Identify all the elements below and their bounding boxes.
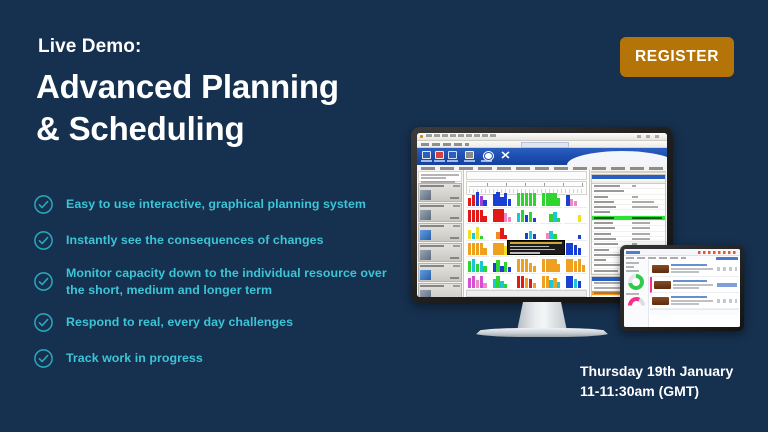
list-item: Easy to use interactive, graphical plann… bbox=[33, 193, 393, 215]
check-circle-icon bbox=[33, 230, 54, 251]
list-item-label: Monitor capacity down to the individual … bbox=[66, 265, 393, 298]
chart-cell[interactable] bbox=[564, 275, 587, 291]
list-item: Respond to real, every day challenges bbox=[33, 311, 393, 333]
chart-cell[interactable] bbox=[466, 242, 489, 258]
list-item: Track work in progress bbox=[33, 347, 393, 369]
chart-cell[interactable] bbox=[491, 209, 514, 225]
resource-card[interactable] bbox=[418, 203, 462, 222]
item-actions[interactable] bbox=[717, 299, 737, 303]
event-schedule: Thursday 19th January 11-11:30am (GMT) bbox=[580, 362, 733, 402]
check-circle-icon bbox=[33, 312, 54, 333]
chart-cell[interactable] bbox=[540, 192, 563, 208]
resource-card[interactable] bbox=[418, 183, 462, 202]
resource-card[interactable] bbox=[418, 223, 462, 242]
event-date: Thursday 19th January bbox=[580, 362, 733, 382]
tablet-status-indicators bbox=[698, 251, 738, 254]
chart-view-icon[interactable] bbox=[435, 151, 444, 159]
clipboard-label bbox=[464, 160, 475, 162]
chart-cell[interactable] bbox=[466, 192, 489, 208]
chart-cell[interactable] bbox=[491, 225, 514, 241]
progress-gauge-pink bbox=[628, 297, 645, 306]
chart-filter-bar[interactable] bbox=[466, 171, 587, 180]
chart-cell[interactable] bbox=[564, 192, 587, 208]
list-item: Instantly see the consequences of change… bbox=[33, 229, 393, 251]
app-titlebar bbox=[417, 133, 667, 141]
item-text bbox=[671, 262, 717, 274]
chart-cell[interactable] bbox=[515, 192, 538, 208]
chart-cell[interactable] bbox=[466, 209, 489, 225]
toolbar-swoosh-decoration bbox=[567, 151, 667, 165]
menu-items[interactable] bbox=[421, 143, 469, 146]
chart-cell[interactable] bbox=[564, 209, 587, 225]
info-panel-tabs[interactable] bbox=[591, 171, 666, 173]
chart-cell[interactable] bbox=[491, 192, 514, 208]
chart-cell[interactable] bbox=[515, 275, 538, 291]
list-item[interactable] bbox=[650, 261, 739, 277]
app-toolbar[interactable] bbox=[417, 148, 667, 165]
resource-card[interactable] bbox=[418, 283, 462, 297]
metric-value bbox=[626, 266, 634, 268]
app-window-title bbox=[426, 134, 496, 137]
check-circle-icon bbox=[33, 271, 54, 292]
close-x-icon[interactable] bbox=[501, 151, 510, 159]
chart-cell[interactable] bbox=[515, 209, 538, 225]
kicker-text: Live Demo: bbox=[38, 36, 141, 58]
grid-view-icon[interactable] bbox=[422, 151, 431, 159]
metric-label bbox=[626, 262, 639, 264]
tablet-screen bbox=[624, 249, 740, 327]
list-item[interactable] bbox=[650, 293, 739, 309]
item-actions[interactable] bbox=[717, 283, 737, 287]
list-item[interactable] bbox=[650, 277, 739, 293]
app-menubar[interactable] bbox=[417, 141, 667, 148]
tablet-device bbox=[620, 245, 744, 331]
chart-cell[interactable] bbox=[466, 258, 489, 274]
list-item-label: Respond to real, every day challenges bbox=[66, 314, 293, 331]
tablet-breadcrumb[interactable] bbox=[626, 257, 686, 259]
item-thumbnail bbox=[652, 265, 669, 273]
person-icon[interactable] bbox=[448, 151, 457, 159]
capacity-chart-panel[interactable] bbox=[464, 170, 589, 297]
tablet-list-footer bbox=[650, 309, 739, 315]
chart-cell[interactable] bbox=[466, 275, 489, 291]
chart-cell[interactable] bbox=[540, 209, 563, 225]
chart-cell[interactable] bbox=[466, 225, 489, 241]
chart-view-label bbox=[434, 160, 445, 162]
chart-cell[interactable] bbox=[491, 258, 514, 274]
list-item-label: Easy to use interactive, graphical plann… bbox=[66, 196, 366, 213]
chart-horizontal-scrollbar[interactable] bbox=[466, 290, 587, 297]
chart-cell[interactable] bbox=[564, 225, 587, 241]
resource-sidebar-header bbox=[418, 171, 462, 182]
check-circle-icon bbox=[33, 348, 54, 369]
metric-label bbox=[626, 270, 639, 272]
app-logo-icon bbox=[420, 135, 423, 138]
chart-cell[interactable] bbox=[540, 258, 563, 274]
window-controls[interactable] bbox=[637, 135, 663, 138]
tablet-app-header bbox=[624, 249, 740, 256]
list-item-label: Track work in progress bbox=[66, 350, 203, 367]
person-label bbox=[447, 160, 458, 162]
check-circle-icon bbox=[33, 194, 54, 215]
item-text bbox=[673, 278, 717, 290]
progress-gauge-green bbox=[628, 274, 644, 290]
chart-cell[interactable] bbox=[540, 275, 563, 291]
item-thumbnail bbox=[654, 281, 671, 289]
title-line-2: & Scheduling bbox=[36, 108, 339, 150]
page-title: Advanced Planning & Scheduling bbox=[36, 66, 339, 149]
chart-cell[interactable] bbox=[491, 275, 514, 291]
resource-sidebar[interactable] bbox=[417, 170, 464, 297]
feature-list: Easy to use interactive, graphical plann… bbox=[33, 193, 393, 383]
event-time: 11-11:30am (GMT) bbox=[580, 382, 733, 402]
grid-view-label bbox=[421, 160, 432, 162]
metric-label bbox=[626, 293, 639, 295]
info-label bbox=[481, 160, 492, 162]
item-thumbnail bbox=[652, 297, 669, 305]
clipboard-icon[interactable] bbox=[465, 151, 474, 159]
item-actions[interactable] bbox=[717, 267, 737, 271]
tablet-work-list[interactable] bbox=[649, 260, 740, 327]
chart-tooltip bbox=[507, 240, 565, 255]
slide-canvas: Live Demo: Advanced Planning & Schedulin… bbox=[0, 0, 768, 432]
chart-cell[interactable] bbox=[515, 225, 538, 241]
chart-cell[interactable] bbox=[540, 225, 563, 241]
tablet-app-logo-icon bbox=[626, 251, 640, 254]
title-line-1: Advanced Planning bbox=[36, 68, 339, 105]
chart-cell[interactable] bbox=[564, 258, 587, 274]
resource-card[interactable] bbox=[418, 243, 462, 262]
monitor-stand-neck bbox=[517, 302, 567, 331]
item-text bbox=[671, 294, 717, 306]
list-item-label: Instantly see the consequences of change… bbox=[66, 232, 324, 249]
register-button[interactable]: REGISTER bbox=[620, 37, 734, 77]
monitor-stand-base bbox=[473, 328, 611, 337]
list-item: Monitor capacity down to the individual … bbox=[33, 265, 393, 298]
tablet-body bbox=[624, 260, 740, 327]
tablet-metrics-sidebar bbox=[624, 260, 649, 327]
chart-cell[interactable] bbox=[564, 242, 587, 258]
chart-cell[interactable] bbox=[515, 258, 538, 274]
resource-card[interactable] bbox=[418, 263, 462, 282]
